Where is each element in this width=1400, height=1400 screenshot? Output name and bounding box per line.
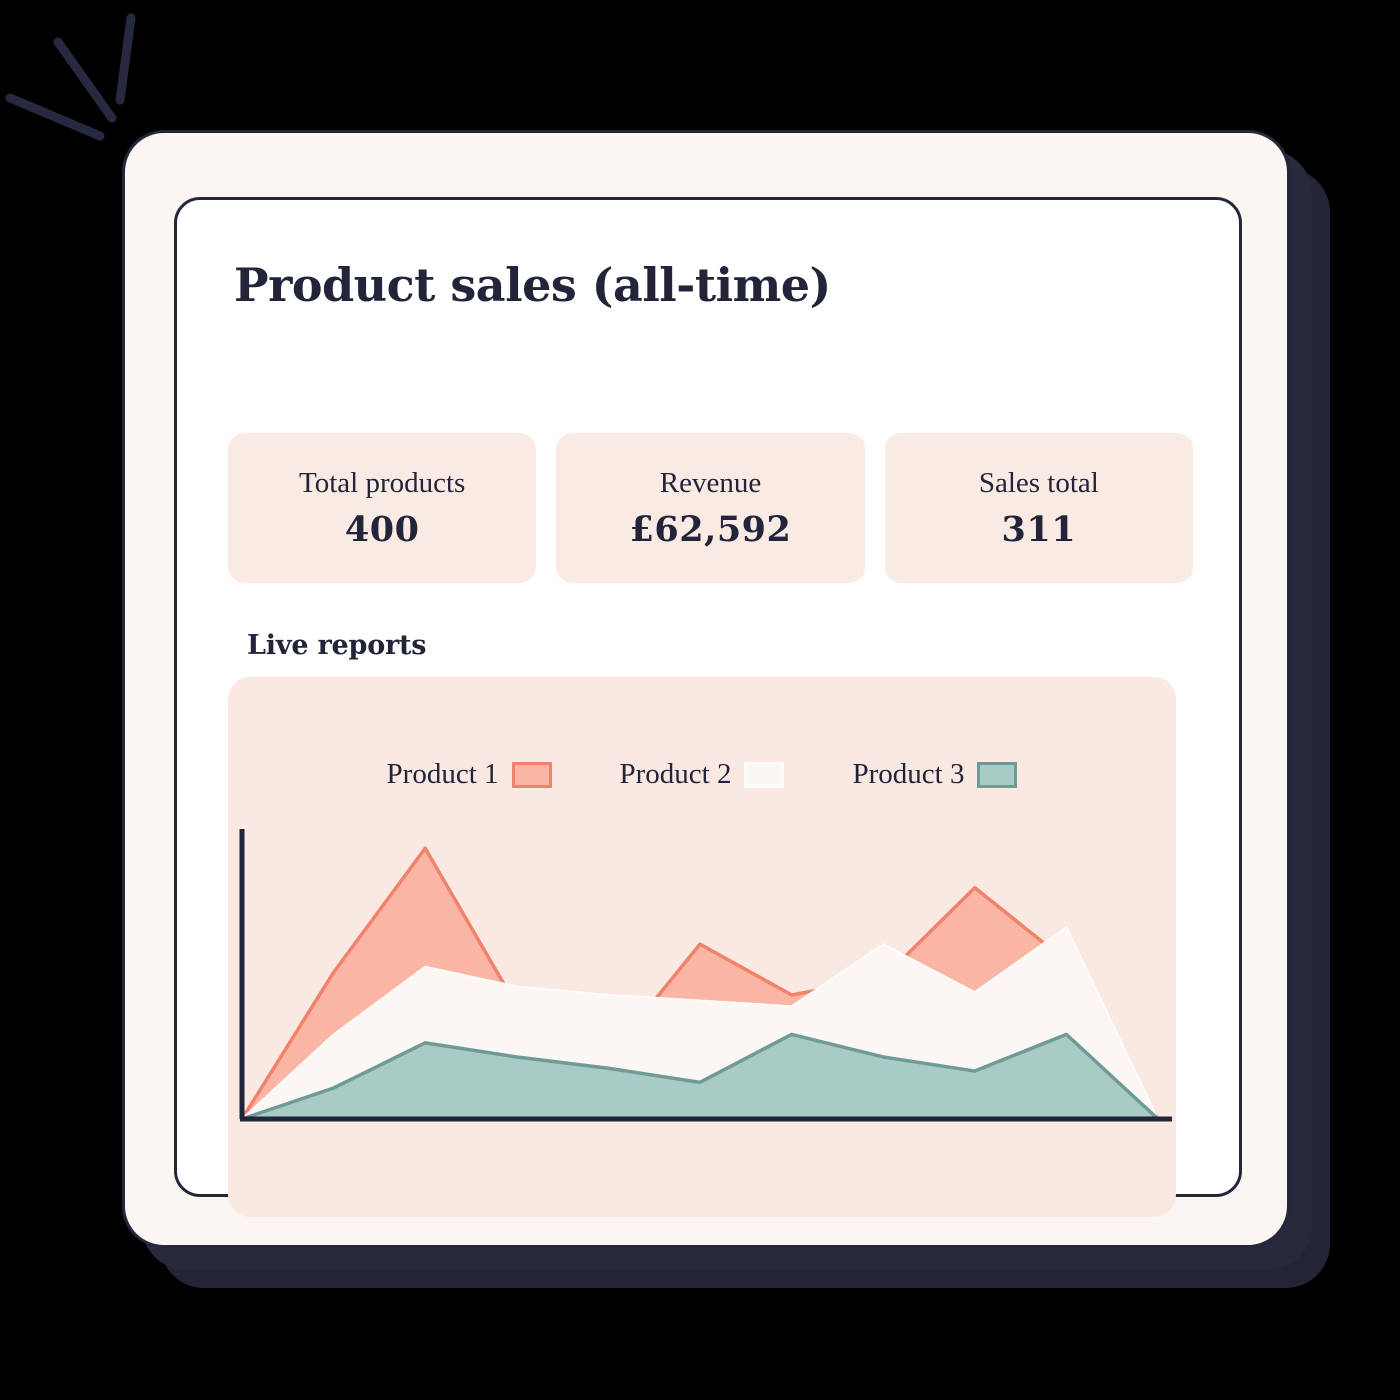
stat-value: £62,592 — [630, 512, 792, 547]
legend-item-product-1[interactable]: Product 1 — [387, 760, 552, 789]
legend-swatch-product-2 — [744, 762, 784, 788]
sparkle-line-diagonal — [58, 42, 112, 118]
legend-item-product-2[interactable]: Product 2 — [620, 760, 785, 789]
live-reports-chart-panel: Product 1 Product 2 Product 3 — [228, 677, 1176, 1217]
dashboard-panel: Product sales (all-time) Total products … — [174, 197, 1242, 1197]
stat-label: Sales total — [979, 469, 1099, 498]
legend-label: Product 1 — [387, 760, 499, 789]
stat-card-revenue: Revenue £62,592 — [556, 433, 864, 583]
stat-value: 311 — [1002, 512, 1077, 547]
stats-row: Total products 400 Revenue £62,592 Sales… — [228, 433, 1193, 583]
legend-swatch-product-1 — [512, 762, 552, 788]
page-title: Product sales (all-time) — [234, 258, 831, 312]
section-title-live-reports: Live reports — [247, 630, 426, 661]
legend-label: Product 3 — [852, 760, 964, 789]
legend-swatch-product-3 — [977, 762, 1017, 788]
area-chart — [228, 827, 1176, 1127]
stat-label: Revenue — [660, 469, 761, 498]
sparkle-line-vertical — [120, 18, 131, 100]
stat-card-total-products: Total products 400 — [228, 433, 536, 583]
legend-item-product-3[interactable]: Product 3 — [852, 760, 1017, 789]
chart-legend: Product 1 Product 2 Product 3 — [228, 760, 1176, 789]
stat-card-sales-total: Sales total 311 — [885, 433, 1193, 583]
stat-value: 400 — [345, 512, 420, 547]
dashboard-outer-card: Product sales (all-time) Total products … — [122, 130, 1290, 1248]
stat-label: Total products — [299, 469, 465, 498]
legend-label: Product 2 — [620, 760, 732, 789]
sparkle-line-horizontal — [10, 98, 100, 136]
